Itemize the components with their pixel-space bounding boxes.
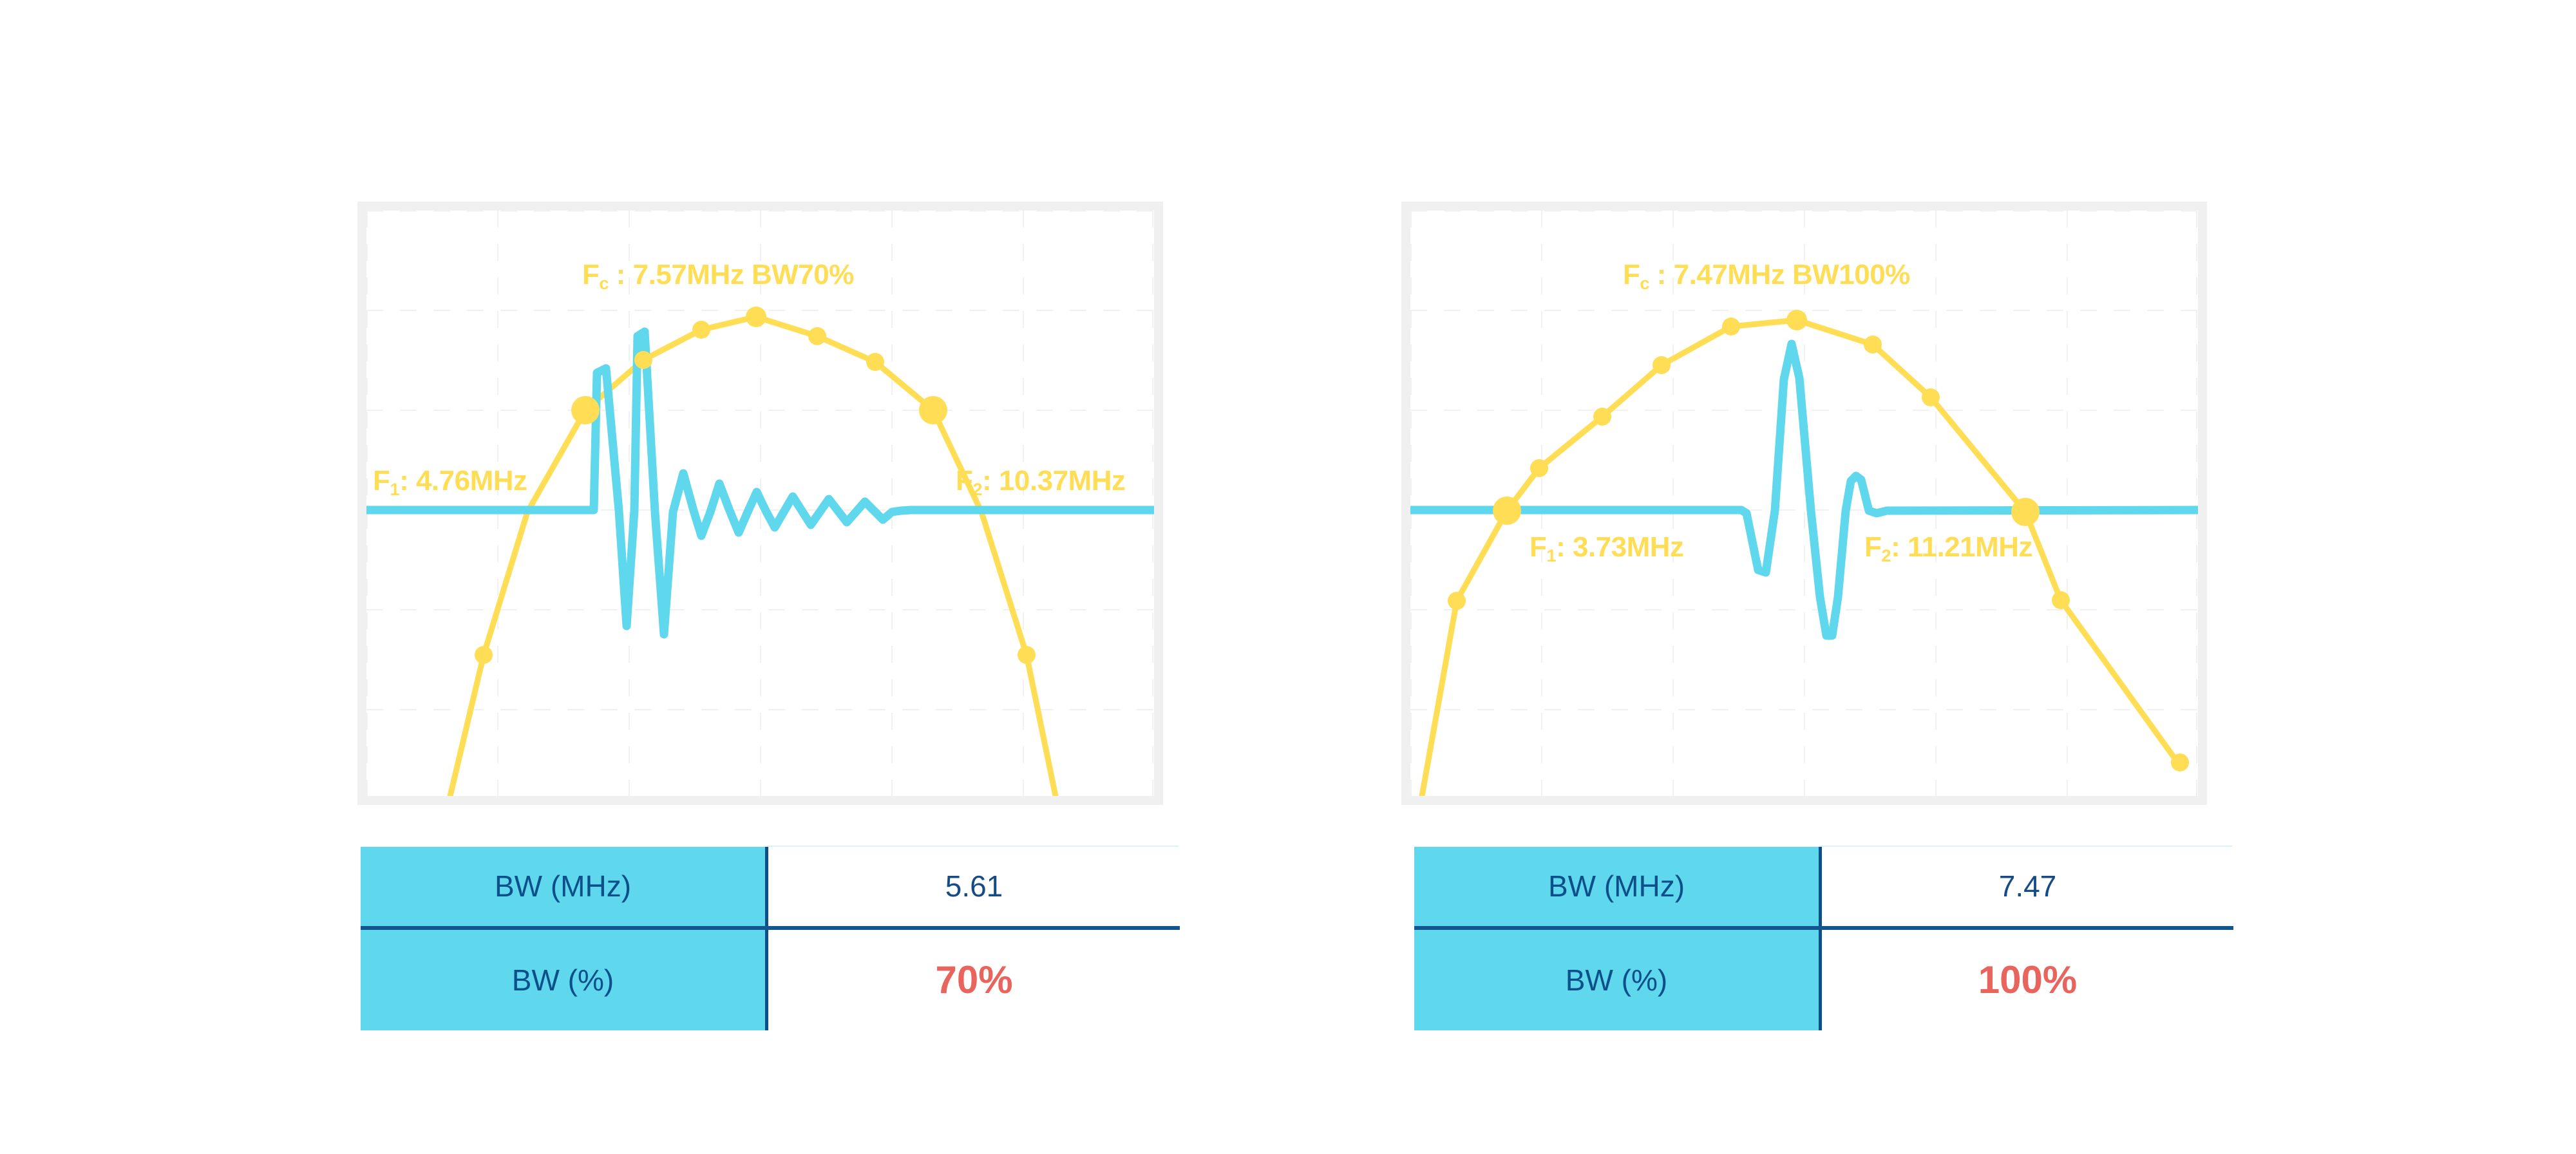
bw100-chart-panel: Fc : 7.47MHz BW100% F1: 3.73MHz F2: 11.2… [1401,202,2207,805]
bw-mhz-value: 5.61 [767,847,1180,928]
bw100-plot-area: Fc : 7.47MHz BW100% F1: 3.73MHz F2: 11.2… [1410,211,2198,796]
bw-pct-header: BW (%) [1414,928,1821,1030]
table-row: BW (MHz) 7.47 [1414,847,2233,928]
bw-pct-value: 100% [1821,928,2234,1030]
bw70-f2-label: F2: 10.37MHz [956,465,1125,500]
table-row: BW (MHz) 5.61 [361,847,1180,928]
f2-subscript: 2 [1881,545,1891,565]
fc-subscript: c [599,273,609,293]
bw-pct-header: BW (%) [361,928,767,1030]
f1-subscript: 1 [1546,545,1556,565]
f2-prefix: F [1864,531,1881,563]
f2-prefix: F [956,465,972,497]
bw70-plot-svg [366,211,1154,796]
fc-text: : 7.47MHz BW100% [1649,259,1910,290]
bw100-results-table: BW (MHz) 7.47 BW (%) 100% [1414,847,2233,1030]
page-root: Fc : 7.57MHz BW70% F1: 4.76MHz F2: 10.37… [0,0,2576,1154]
bw100-f2-label: F2: 11.21MHz [1864,531,2032,566]
bw-pct-value: 70% [767,928,1180,1030]
bw-mhz-header: BW (MHz) [361,847,767,928]
bw70-plot-area: Fc : 7.57MHz BW70% F1: 4.76MHz F2: 10.37… [366,211,1154,796]
spectrum-curve [450,317,1056,796]
bw70-results-table: BW (MHz) 5.61 BW (%) 70% [361,847,1180,1030]
f1-text: : 4.76MHz [399,465,527,497]
fc-prefix: F [1623,259,1640,290]
table-row: BW (%) 100% [1414,928,2233,1030]
bw-mhz-value: 7.47 [1821,847,2234,928]
f1-text: : 3.73MHz [1556,531,1683,563]
f2-text: : 10.37MHz [982,465,1125,497]
bw-mhz-header: BW (MHz) [1414,847,1821,928]
table-row: BW (%) 70% [361,928,1180,1030]
f1-prefix: F [1529,531,1546,563]
fc-prefix: F [582,259,599,290]
f2-subscript: 2 [972,479,982,499]
bw70-f1-label: F1: 4.76MHz [373,465,527,500]
bw70-fc-label: Fc : 7.57MHz BW70% [582,259,854,294]
fc-subscript: c [1640,273,1649,293]
bw70-chart-panel: Fc : 7.57MHz BW70% F1: 4.76MHz F2: 10.37… [357,202,1163,805]
f1-subscript: 1 [390,479,399,499]
f1-prefix: F [373,465,390,497]
bw100-plot-svg [1410,211,2198,796]
grid-lines [1410,211,2198,796]
bw100-fc-label: Fc : 7.47MHz BW100% [1623,259,1910,294]
fc-text: : 7.57MHz BW70% [609,259,854,290]
f2-text: : 11.21MHz [1891,531,2032,563]
bw100-f1-label: F1: 3.73MHz [1529,531,1684,566]
